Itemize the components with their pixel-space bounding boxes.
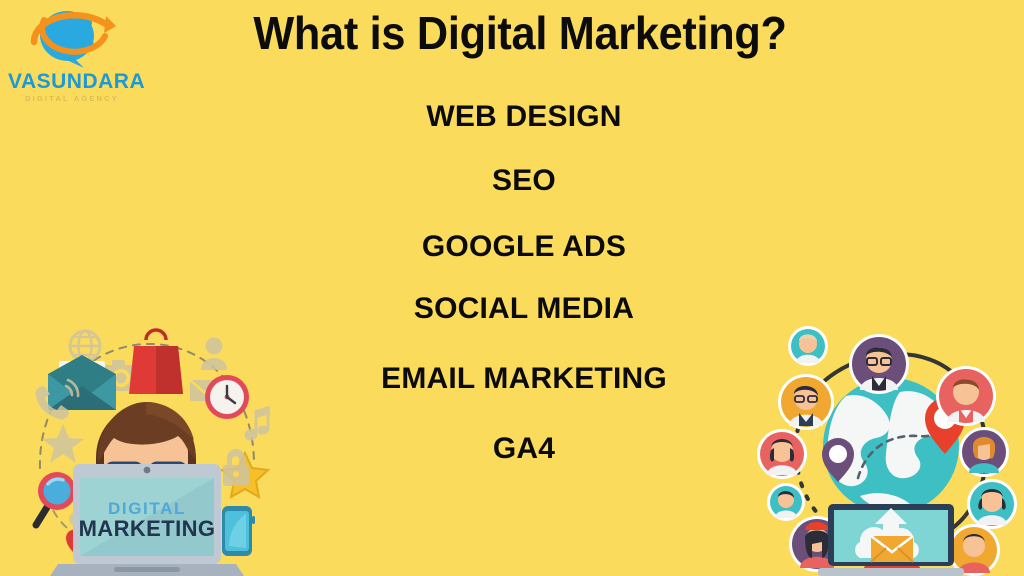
email-marketing-global-network-illustration: SEND [760,318,1022,576]
service-item-google-ads: GOOGLE ADS [224,232,824,262]
logo-wordmark: VASUNDARA [8,70,136,94]
avatar-icon [767,483,805,521]
poster-canvas: VASUNDARA DIGITAL AGENCY What is Digital… [0,0,1024,576]
laptop-screen-line2: MARKETING [79,516,216,541]
shopping-bag-icon [129,330,183,394]
digital-marketing-laptop-person-illustration: DIGITAL MARKETING [18,318,276,576]
logo-tagline: DIGITAL AGENCY [8,94,136,103]
service-item-web-design: WEB DESIGN [224,102,824,132]
globe-icon [70,331,100,361]
brand-logo[interactable]: VASUNDARA DIGITAL AGENCY [8,4,136,112]
smartphone-icon [222,506,255,556]
avatar-icon [959,427,1009,477]
laptop-icon: DIGITAL MARKETING [50,464,244,576]
logo-globe-swoosh-people-icon [22,6,122,74]
avatar-icon [936,366,996,426]
clock-icon [205,375,249,419]
services-list: WEB DESIGN SEO GOOGLE ADS SOCIAL MEDIA E… [224,92,824,464]
avatar-icon [757,429,807,479]
service-item-seo: SEO [224,166,824,196]
user-icon [201,338,227,371]
avatar-icon [788,326,828,366]
laptop-icon: SEND [818,504,964,576]
avatar-icon [778,374,834,430]
service-item-email-marketing: EMAIL MARKETING [224,364,824,394]
avatar-icon [849,334,909,394]
service-item-social-media: SOCIAL MEDIA [224,294,824,324]
envelope-icon [871,536,913,562]
music-note-icon [246,406,271,440]
envelope-open-icon [48,355,116,410]
avatar-icon [967,479,1017,529]
service-item-ga4: GA4 [224,434,824,464]
page-title: What is Digital Marketing? [182,6,859,60]
star-outline-icon [42,424,84,463]
